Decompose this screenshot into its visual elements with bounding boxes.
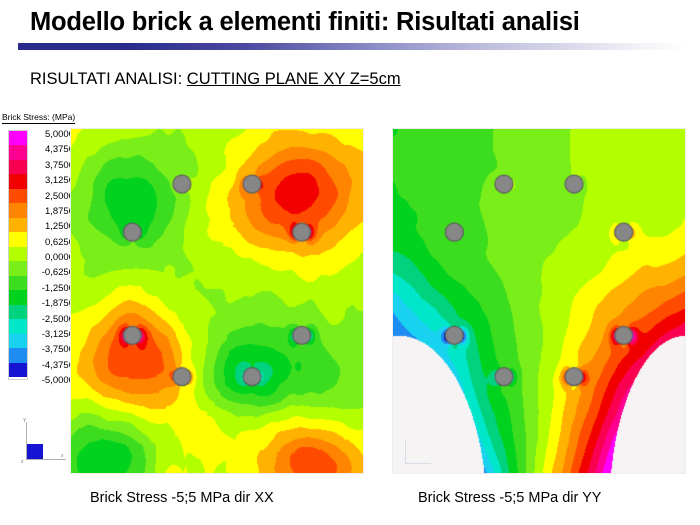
- triad-small-x-axis: [405, 463, 431, 464]
- colorbar-band-1: [9, 145, 27, 159]
- colorbar-tick-15: -4,3750: [30, 360, 74, 371]
- colorbar-band-4: [9, 189, 27, 203]
- subtitle: RISULTATI ANALISI: CUTTING PLANE XY Z=5c…: [30, 70, 401, 89]
- colorbar-band-0: [9, 131, 27, 145]
- colorbar-tick-6: 1,2500: [30, 221, 74, 232]
- colorbar-tick-0: 5,0000: [30, 129, 74, 140]
- triad-label-y: Y: [23, 418, 26, 424]
- colorbar-tick-3: 3,1250: [30, 175, 74, 186]
- triad-label-z: z: [21, 459, 24, 465]
- contour-plot-yy[interactable]: [392, 128, 686, 474]
- colorbar-tick-9: -0,6250: [30, 267, 74, 278]
- triad-x-axis: [26, 459, 66, 460]
- colorbar-band-3: [9, 174, 27, 188]
- slide-root: Modello brick a elementi finiti: Risulta…: [0, 0, 700, 525]
- colorbar-tick-14: -3,7500: [30, 344, 74, 355]
- colorbar-tick-1: 4,3750: [30, 144, 74, 155]
- colorbar-tick-16: -5,0000: [30, 375, 74, 386]
- colorbar-tick-7: 0,6250: [30, 237, 74, 248]
- colorbar-band-10: [9, 276, 27, 290]
- colorbar-band-6: [9, 218, 27, 232]
- colorbar-band-13: [9, 319, 27, 333]
- contour-canvas-xx: [71, 129, 363, 473]
- colorbar-gradient: [8, 130, 28, 380]
- colorbar-band-11: [9, 290, 27, 304]
- page-title: Modello brick a elementi finiti: Risulta…: [30, 8, 680, 37]
- subtitle-emphasis: CUTTING PLANE XY Z=5cm: [187, 70, 401, 88]
- colorbar-band-12: [9, 305, 27, 319]
- colorbar-band-15: [9, 348, 27, 362]
- contour-canvas-yy: [393, 129, 685, 473]
- colorbar-tick-4: 2,5000: [30, 191, 74, 202]
- colorbar-tick-13: -3,1250: [30, 329, 74, 340]
- colorbar-band-8: [9, 247, 27, 261]
- axis-triad: Y x z: [18, 420, 68, 468]
- colorbar-band-2: [9, 160, 27, 174]
- colorbar-tick-11: -1,8750: [30, 298, 74, 309]
- caption-yy: Brick Stress -5;5 MPa dir YY: [418, 490, 601, 506]
- contour-plot-xx[interactable]: [70, 128, 364, 474]
- colorbar-band-9: [9, 261, 27, 275]
- title-divider: [18, 43, 686, 50]
- subtitle-prefix: RISULTATI ANALISI:: [30, 70, 187, 88]
- colorbar-band-5: [9, 203, 27, 217]
- colorbar-tick-12: -2,5000: [30, 314, 74, 325]
- colorbar-tick-2: 3,7500: [30, 160, 74, 171]
- colorbar-tick-10: -1,2500: [30, 283, 74, 294]
- colorbar: 5,00004,37503,75003,12502,50001,87501,25…: [8, 130, 66, 378]
- triad-origin-marker: [27, 444, 43, 459]
- triad-label-x: x: [61, 453, 64, 459]
- triad-small-y-axis: [405, 440, 406, 464]
- colorbar-band-14: [9, 334, 27, 348]
- colorbar-band-16: [9, 363, 27, 377]
- colorbar-band-7: [9, 232, 27, 246]
- caption-xx: Brick Stress -5;5 MPa dir XX: [90, 490, 274, 506]
- colorbar-tick-5: 1,8750: [30, 206, 74, 217]
- colorbar-tick-8: 0,0000: [30, 252, 74, 263]
- axis-triad-small: [399, 439, 433, 469]
